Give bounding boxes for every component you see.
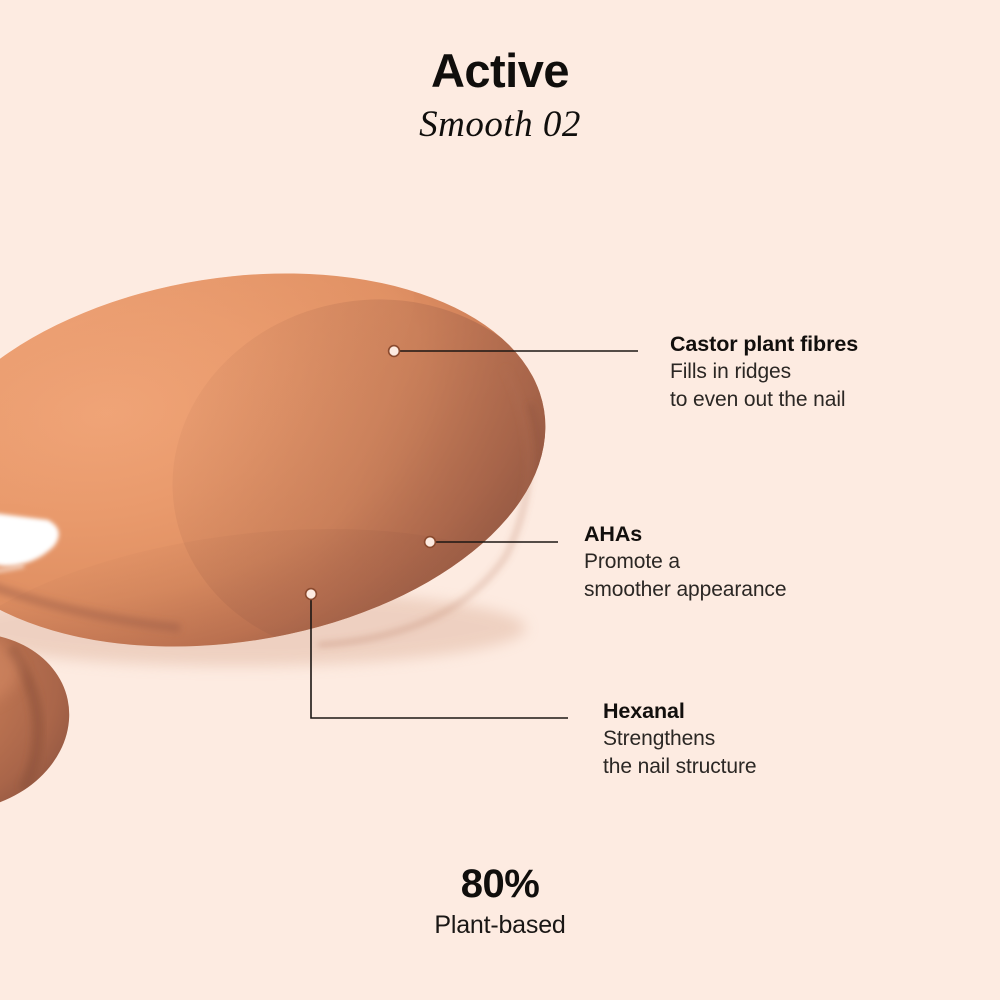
callout-title: Hexanal: [603, 698, 756, 725]
infographic-canvas: Active Smooth 02: [0, 0, 1000, 1000]
plant-based-label: Plant-based: [0, 910, 1000, 940]
callout-ahas: AHAs Promote a smoother appearance: [584, 521, 786, 604]
callout-line: the nail structure: [603, 753, 756, 781]
callout-title: AHAs: [584, 521, 786, 548]
callout-castor-plant-fibres: Castor plant fibres Fills in ridges to e…: [670, 331, 858, 414]
plant-based-percentage: 80%: [0, 862, 1000, 906]
droplet-secondary: [0, 613, 86, 830]
callout-title: Castor plant fibres: [670, 331, 858, 358]
callout-line: Strengthens: [603, 725, 756, 753]
leader-line-hexanal: [306, 589, 568, 718]
page-title: Active: [0, 46, 1000, 95]
leader-line-castor-plant-fibres: [389, 346, 638, 357]
header: Active Smooth 02: [0, 0, 1000, 148]
callout-line: to even out the nail: [670, 386, 858, 414]
callout-line: smoother appearance: [584, 576, 786, 604]
callout-line: Fills in ridges: [670, 358, 858, 386]
droplet-shadow: [0, 590, 526, 666]
specular-highlight: [0, 505, 59, 573]
page-subtitle: Smooth 02: [0, 103, 1000, 147]
droplet-main: [0, 148, 597, 837]
callout-line: Promote a: [584, 548, 786, 576]
polish-droplet-illustration: [0, 0, 1000, 1000]
footer: 80% Plant-based: [0, 862, 1000, 940]
leader-line-ahas: [425, 537, 558, 548]
callout-hexanal: Hexanal Strengthens the nail structure: [603, 698, 756, 781]
